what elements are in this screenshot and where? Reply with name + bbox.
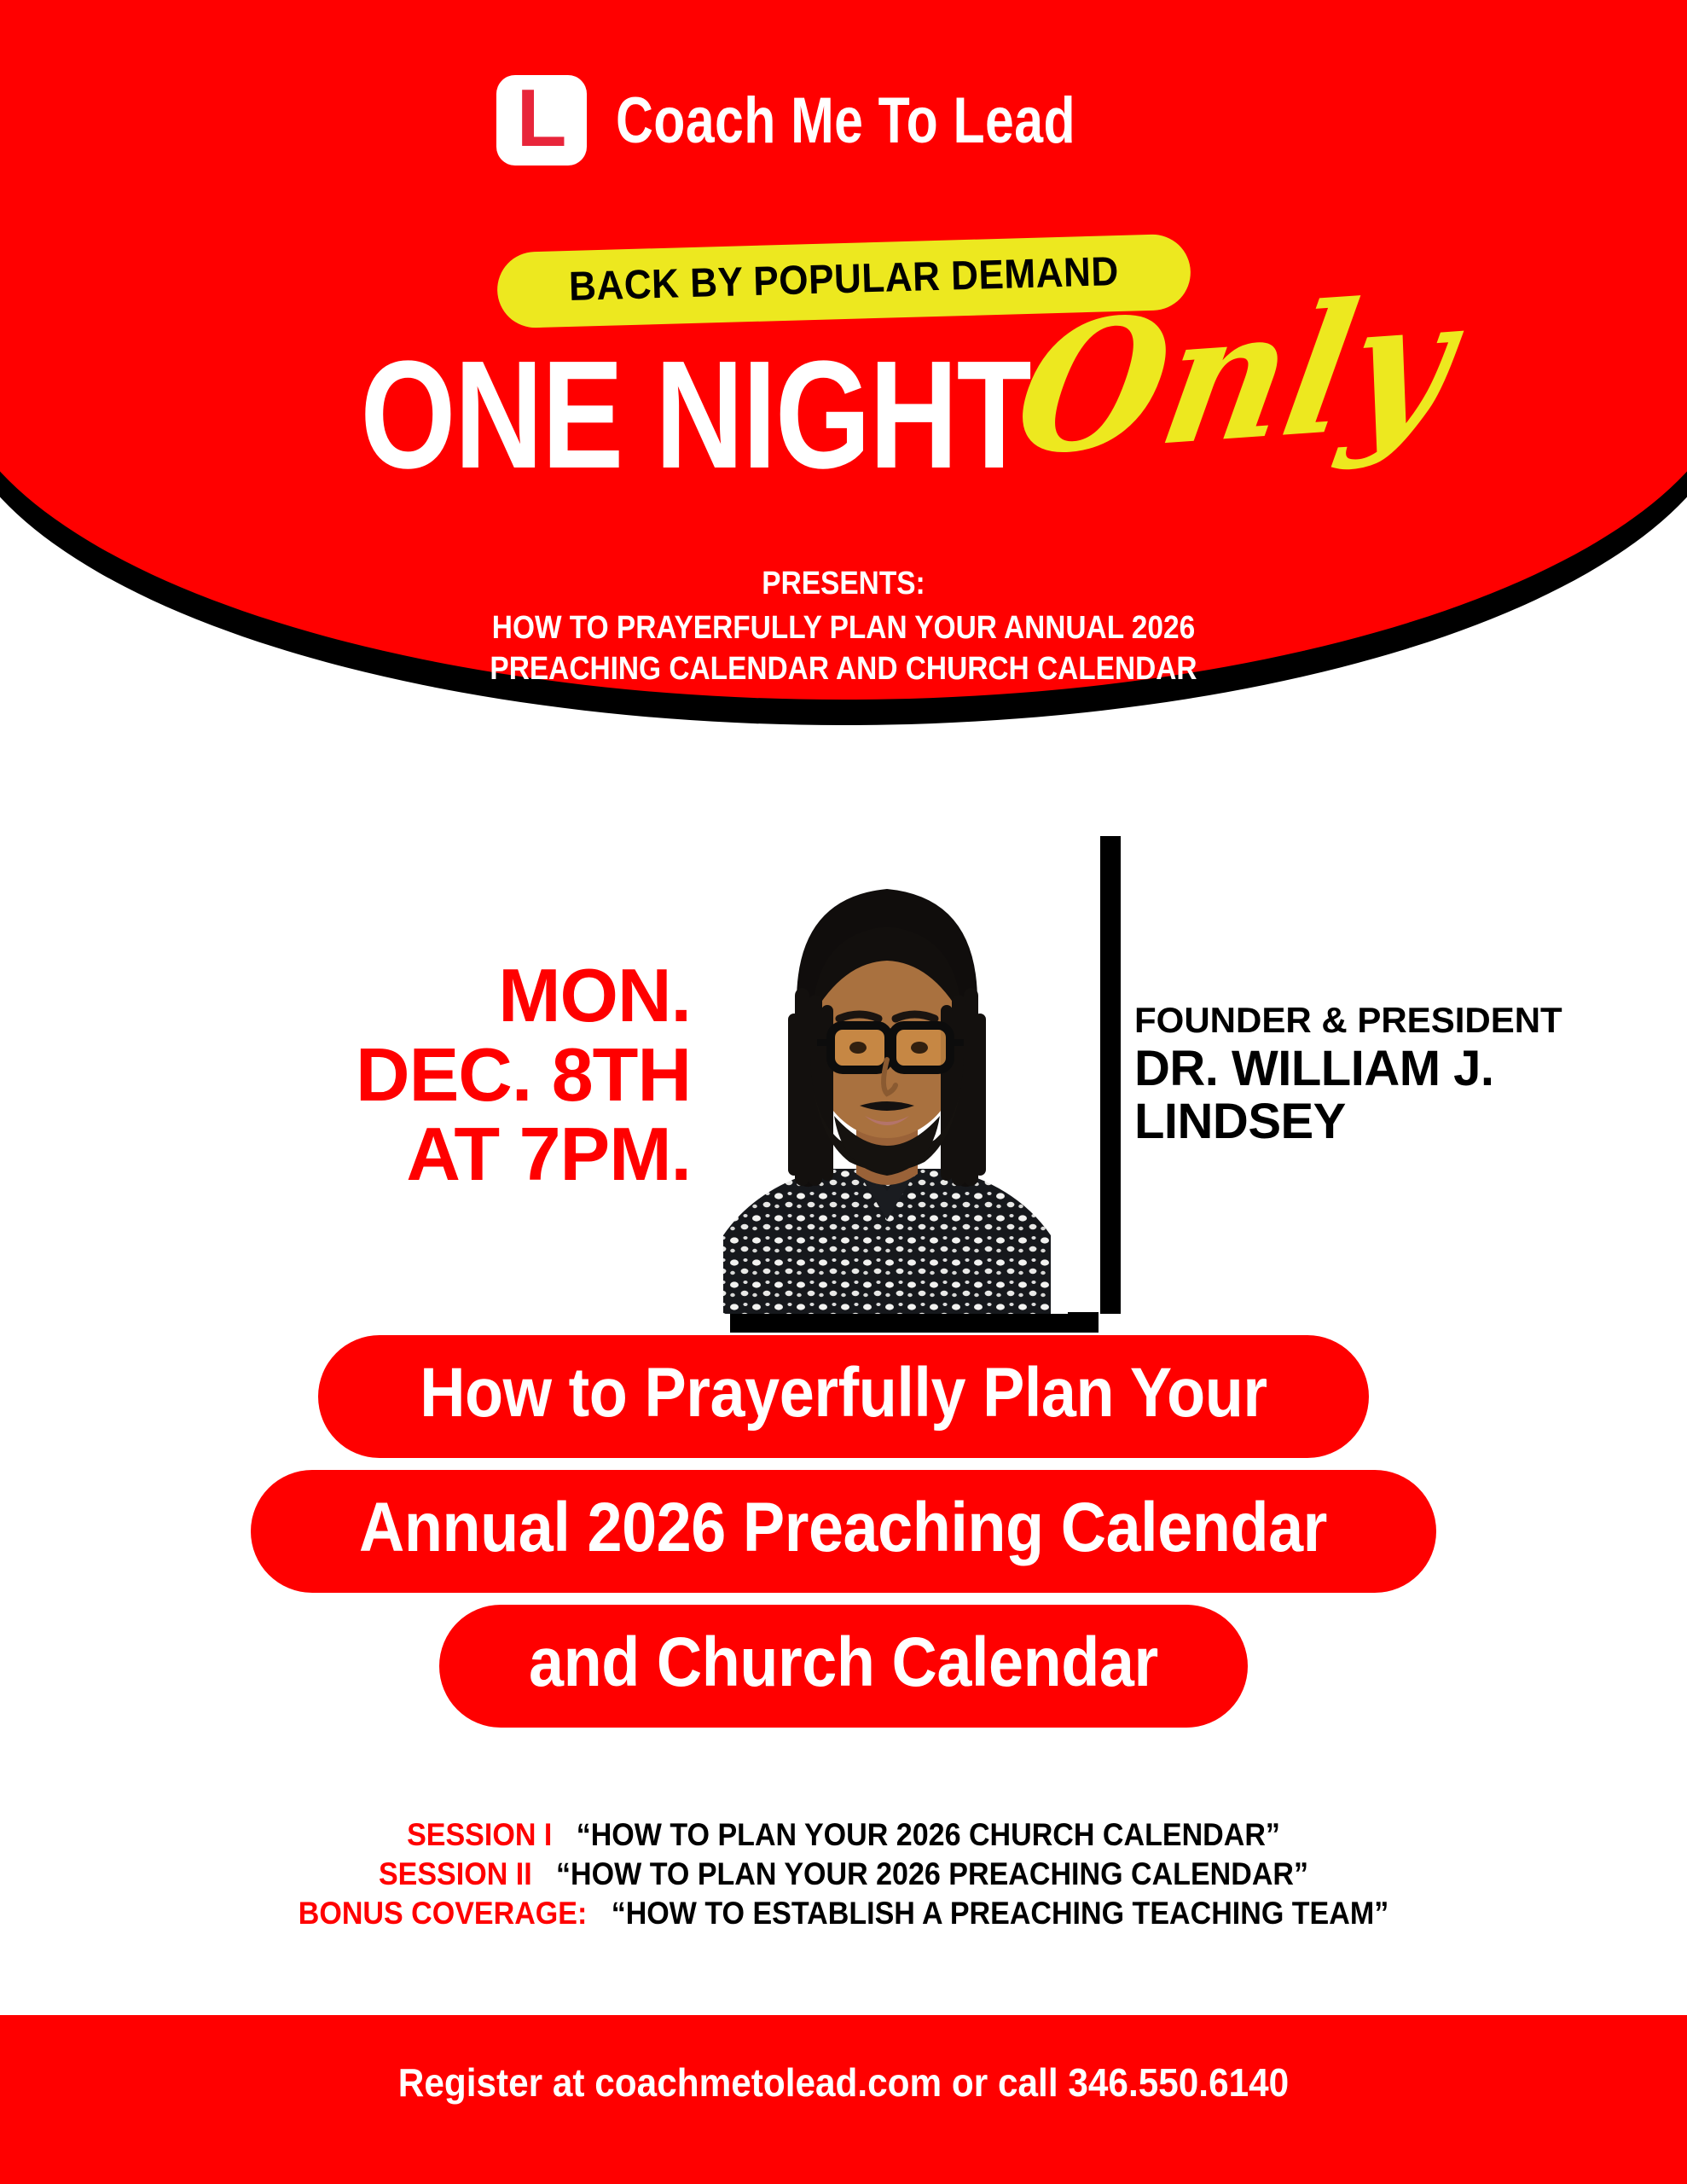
topic-banner-3: and Church Calendar [439,1605,1248,1728]
registration-cta[interactable]: Register at coachmetolead.com or call 34… [67,2059,1620,2106]
bonus-title: “HOW TO ESTABLISH A PREACHING TEACHING T… [612,1896,1389,1931]
session-1-title: “HOW TO PLAN YOUR 2026 CHURCH CALENDAR” [577,1817,1280,1852]
topic-banner-3-text: and Church Calendar [529,1623,1158,1702]
speaker-info: FOUNDER & PRESIDENT DR. WILLIAM J. LINDS… [1134,998,1612,1148]
headline-one-night: ONE NIGHT [361,334,1031,497]
event-details-section: MON. DEC. 8TH AT 7PM. [0,819,1687,1348]
presents-line-2: PREACHING CALENDAR AND CHURCH CALENDAR [101,648,1586,689]
presents-label: PRESENTS: [101,563,1586,604]
header-banner: L Coach Me To Lead BACK BY POPULAR DEMAN… [0,0,1687,751]
topic-banner-row: How to Prayerfully Plan Your [0,1335,1687,1458]
session-2-title: “HOW TO PLAN YOUR 2026 PREACHING CALENDA… [556,1856,1308,1891]
footer-band: Register at coachmetolead.com or call 34… [0,2015,1687,2184]
headline-only-script: Only [1006,282,1464,473]
topic-banners: How to Prayerfully Plan Your Annual 2026… [0,1335,1687,1740]
presents-block: PRESENTS: HOW TO PRAYERFULLY PLAN YOUR A… [0,563,1687,689]
event-date: MON. DEC. 8TH AT 7PM. [213,955,691,1194]
portrait-frame-bottom-bar [730,1312,1099,1333]
session-item: SESSION I “HOW TO PLAN YOUR 2026 CHURCH … [67,1815,1620,1855]
brand-logo-lockup: L Coach Me To Lead [0,75,1687,166]
speaker-photo [706,834,1068,1314]
session-list: SESSION I “HOW TO PLAN YOUR 2026 CHURCH … [0,1815,1687,1933]
topic-banner-2-text: Annual 2026 Preaching Calendar [360,1489,1328,1567]
speaker-portrait-block [706,819,1090,1314]
topic-banner-row: Annual 2026 Preaching Calendar [0,1470,1687,1593]
logo-letter-l: L [496,75,587,166]
headline: ONE NIGHT Only [0,334,1687,497]
bonus-label: BONUS COVERAGE: [299,1896,588,1931]
topic-banner-1: How to Prayerfully Plan Your [318,1335,1369,1458]
event-date-date: DEC. 8TH [213,1035,691,1114]
speaker-name-line-1: DR. WILLIAM J. [1134,1043,1612,1095]
topic-banner-row: and Church Calendar [0,1605,1687,1728]
session-1-label: SESSION I [407,1817,552,1852]
header-content: L Coach Me To Lead BACK BY POPULAR DEMAN… [0,0,1687,708]
speaker-name-line-2: LINDSEY [1134,1095,1612,1148]
presents-line-1: HOW TO PRAYERFULLY PLAN YOUR ANNUAL 2026 [101,607,1586,648]
session-item: BONUS COVERAGE: “HOW TO ESTABLISH A PREA… [67,1894,1620,1933]
portrait-frame-right-bar [1100,836,1121,1314]
session-2-label: SESSION II [379,1856,532,1891]
speaker-name: DR. WILLIAM J. LINDSEY [1134,1043,1612,1148]
topic-banner-2: Annual 2026 Preaching Calendar [251,1470,1435,1593]
logo-mark-icon: L [496,75,587,166]
session-item: SESSION II “HOW TO PLAN YOUR 2026 PREACH… [67,1855,1620,1894]
brand-name: Coach Me To Lead [616,84,1075,158]
event-date-day: MON. [213,955,691,1035]
speaker-role: FOUNDER & PRESIDENT [1134,998,1612,1043]
topic-banner-1-text: How to Prayerfully Plan Your [420,1354,1267,1432]
event-date-time: AT 7PM. [213,1114,691,1194]
